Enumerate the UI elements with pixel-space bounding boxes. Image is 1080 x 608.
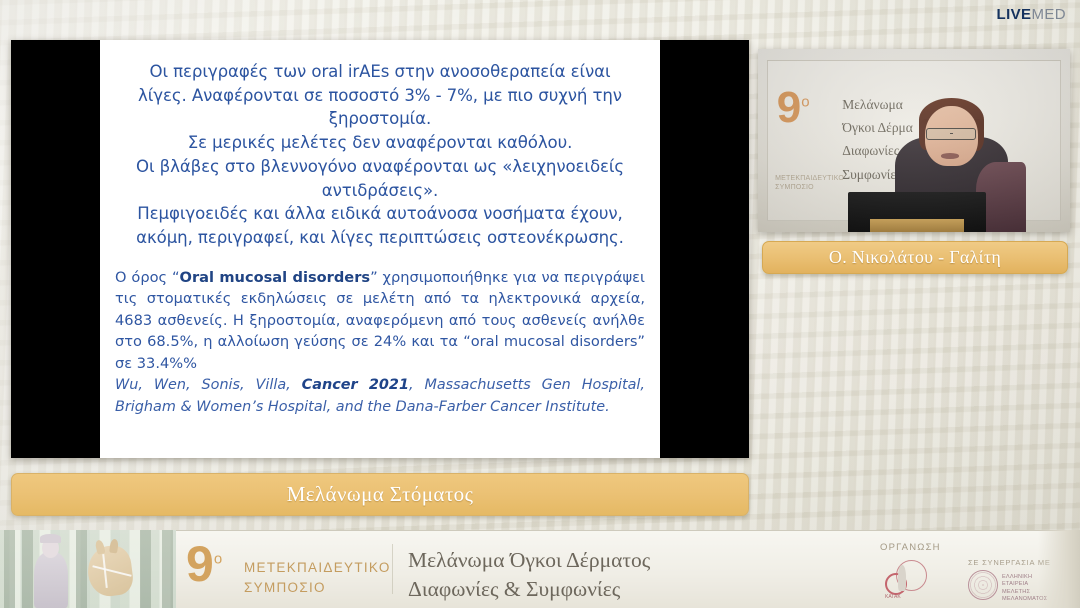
footer-artwork-woman-horse (0, 530, 176, 608)
footer-edition-number-text: 9 (186, 536, 214, 592)
video-backdrop-title-line1: Μελάνωμα (842, 93, 913, 116)
session-title-label: Μελάνωμα Στόματος (287, 482, 474, 507)
footer-symposium-label: ΜΕΤΕΚΠΑΙΔΕΥΤΙΚΟ ΣΥΜΠΟΣΙΟ (244, 558, 391, 597)
slide-intro-line-8: ακόμη, περιγραφεί, και λίγες περιπτώσεις… (112, 226, 648, 250)
slide-citation-pre: Wu, Wen, Sonis, Villa, (115, 377, 302, 393)
session-title-bar: Μελάνωμα Στόματος (11, 473, 749, 516)
speaker-name-bar: Ο. Νικολάτου - Γαλίτη (762, 241, 1068, 274)
video-backdrop-symposium-line1: ΜΕΤΕΚΠΑΙΔΕΥΤΙΚΟ (775, 175, 844, 184)
video-backdrop-symposium-line2: ΣΥΜΠΟΣΙΟ (775, 184, 844, 193)
speaker-video[interactable]: 9ο ΜΕΤΕΚΠΑΙΔΕΥΤΙΚΟ ΣΥΜΠΟΣΙΟ Μελάνωμα Όγκ… (758, 49, 1070, 232)
footer-right-edge (1038, 530, 1080, 608)
video-backdrop-number-sup: ο (801, 94, 809, 111)
footer-conference-title: Μελάνωμα Όγκοι Δέρματος Διαφωνίες & Συμφ… (408, 546, 650, 604)
slide-intro-line-1: Οι περιγραφές των oral irAEs στην ανοσοθ… (112, 60, 648, 84)
video-backdrop-number: 9ο (777, 89, 810, 126)
footer-organizer-label: ΟΡΓΑΝΩΣΗ (880, 542, 941, 553)
speaker-mouth (941, 153, 960, 158)
slide-intro-line-4: Σε μερικές μελέτες δεν αναφέρονται καθόλ… (112, 131, 648, 155)
slide-intro-line-5: Οι βλάβες στο βλεννογόνο αναφέρονται ως … (112, 155, 648, 179)
slide-paragraph: Ο όρος “Oral mucosal disorders” χρησιμοπ… (112, 267, 648, 374)
slide-citation-bold: Cancer 2021 (302, 377, 409, 393)
slide-intro-block: Οι περιγραφές των oral irAEs στην ανοσοθ… (112, 60, 648, 250)
footer-symposium-line1: ΜΕΤΕΚΠΑΙΔΕΥΤΙΚΟ (244, 558, 391, 578)
artwork-rider-body (34, 552, 68, 608)
slide-intro-line-6: αντιδράσεις». (112, 179, 648, 203)
slide-intro-line-3: ξηροστομία. (112, 107, 648, 131)
speaker-glasses (926, 128, 976, 141)
footer-branding-bar: 9ο ΜΕΤΕΚΠΑΙΔΕΥΤΙΚΟ ΣΥΜΠΟΣΙΟ Μελάνωμα Όγκ… (0, 530, 1080, 608)
video-backdrop-number-text: 9 (777, 83, 801, 132)
speaker-video-frame: 9ο ΜΕΤΕΚΠΑΙΔΕΥΤΙΚΟ ΣΥΜΠΟΣΙΟ Μελάνωμα Όγκ… (758, 49, 1070, 232)
video-backdrop-symposium: ΜΕΤΕΚΠΑΙΔΕΥΤΙΚΟ ΣΥΜΠΟΣΙΟ (775, 175, 844, 193)
artwork-rider-hat (40, 534, 61, 543)
slide-content: Οι περιγραφές των oral irAEs στην ανοσοθ… (100, 40, 660, 458)
slide-citation: Wu, Wen, Sonis, Villa, Cancer 2021, Mass… (112, 375, 648, 418)
slide-paragraph-bold: Oral mucosal disorders (180, 269, 371, 286)
slide-intro-line-2: λίγες. Αναφέρονται σε ποσοστό 3% - 7%, μ… (112, 84, 648, 108)
organizer-logo-caption: KATAK (885, 594, 901, 600)
livemed-logo: LIVEMED (997, 7, 1067, 22)
livemed-logo-med: MED (1031, 6, 1066, 23)
video-backdrop-title-line2: Όγκοι Δέρμα (842, 116, 913, 139)
slide-paragraph-pre: Ο όρος “ (115, 269, 180, 286)
livemed-logo-live: LIVE (997, 6, 1032, 23)
slide-intro-line-7: Πεμφιγοειδές και άλλα ειδικά αυτοάνοσα ν… (112, 202, 648, 226)
cooperation-logo-icon (968, 570, 998, 600)
organizer-logo-icon: KATAK (884, 557, 928, 601)
podium-plate (870, 219, 964, 232)
speaker-name-label: Ο. Νικολάτου - Γαλίτη (829, 247, 1001, 268)
footer-symposium-line2: ΣΥΜΠΟΣΙΟ (244, 578, 391, 598)
footer-edition-number: 9ο (186, 541, 222, 589)
footer-edition-number-sup: ο (214, 550, 222, 567)
footer-conference-title-line1: Μελάνωμα Όγκοι Δέρματος (408, 546, 650, 575)
footer-divider (392, 544, 393, 594)
footer-conference-title-line2: Διαφωνίες & Συμφωνίες (408, 575, 650, 604)
slide-viewport[interactable]: Οι περιγραφές των oral irAEs στην ανοσοθ… (11, 40, 749, 458)
